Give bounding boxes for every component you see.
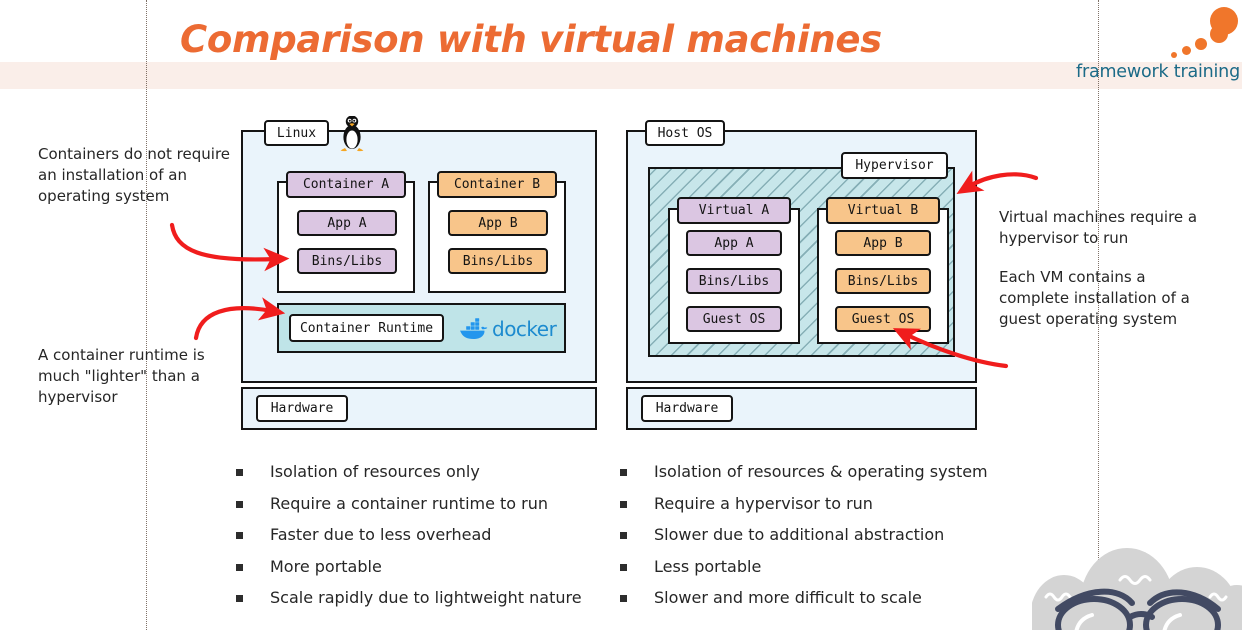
list-item: More portable bbox=[236, 551, 582, 583]
container-diagram: Linux Container A App A Bins/Libs Contai… bbox=[241, 120, 599, 430]
decorative-glasses-illustration bbox=[1032, 525, 1242, 630]
virtual-a-layer-guest-os: Guest OS bbox=[686, 306, 782, 332]
virtual-b-title: Virtual B bbox=[826, 197, 940, 224]
container-b-layer-app: App B bbox=[448, 210, 548, 236]
annotation-vm-needs-hypervisor: Virtual machines require a hypervisor to… bbox=[999, 207, 1214, 249]
list-item: Slower and more difficult to scale bbox=[620, 582, 988, 614]
logo-text: framework training bbox=[1064, 62, 1240, 82]
virtual-b-layer-guest-os: Guest OS bbox=[835, 306, 931, 332]
virtual-a-title: Virtual A bbox=[677, 197, 791, 224]
logo-dot-icon bbox=[1210, 7, 1238, 35]
annotation-runtime-lighter: A container runtime is much "lighter" th… bbox=[38, 345, 238, 408]
logo-dot-icon bbox=[1171, 52, 1177, 58]
vm-diagram: Host OS Hypervisor Virtual A App A Bins/… bbox=[626, 120, 979, 430]
container-a-title: Container A bbox=[286, 171, 406, 198]
list-item: Require a container runtime to run bbox=[236, 488, 582, 520]
list-item: Isolation of resources & operating syste… bbox=[620, 456, 988, 488]
linux-penguin-icon bbox=[335, 116, 369, 152]
logo-dot-icon bbox=[1182, 46, 1191, 55]
hypervisor-label: Hypervisor bbox=[841, 152, 948, 179]
container-a-layer-app: App A bbox=[297, 210, 397, 236]
virtual-b-layer-bins: Bins/Libs bbox=[835, 268, 931, 294]
container-hardware-label: Hardware bbox=[256, 395, 348, 422]
docker-wordmark: docker bbox=[492, 317, 556, 341]
docker-logo: docker bbox=[459, 317, 556, 341]
list-item: Slower due to additional abstraction bbox=[620, 519, 988, 551]
virtual-a-layer-app: App A bbox=[686, 230, 782, 256]
container-runtime-box: Container Runtime bbox=[289, 314, 444, 342]
docker-whale-icon bbox=[459, 318, 489, 341]
list-item: Faster due to less overhead bbox=[236, 519, 582, 551]
annotation-containers-no-os: Containers do not require an installatio… bbox=[38, 144, 238, 207]
os-label-host-os: Host OS bbox=[645, 120, 725, 146]
slide-canvas: Comparison with virtual machines framewo… bbox=[0, 0, 1242, 630]
vm-benefits-list: Isolation of resources & operating syste… bbox=[620, 456, 988, 614]
guide-line-left bbox=[146, 0, 147, 630]
list-item: Less portable bbox=[620, 551, 988, 583]
container-b-title: Container B bbox=[437, 171, 557, 198]
list-item: Require a hypervisor to run bbox=[620, 488, 988, 520]
list-item: Isolation of resources only bbox=[236, 456, 582, 488]
vm-hardware-label: Hardware bbox=[641, 395, 733, 422]
logo-dot-icon bbox=[1195, 38, 1207, 50]
container-benefits-list: Isolation of resources only Require a co… bbox=[236, 456, 582, 614]
annotation-vm-guest-os: Each VM contains a complete installation… bbox=[999, 267, 1214, 330]
title-band bbox=[0, 62, 1242, 89]
os-label-linux: Linux bbox=[264, 120, 329, 146]
list-item: Scale rapidly due to lightweight nature bbox=[236, 582, 582, 614]
brand-logo: framework training bbox=[1064, 4, 1240, 84]
page-title: Comparison with virtual machines bbox=[180, 18, 880, 61]
virtual-a-layer-bins: Bins/Libs bbox=[686, 268, 782, 294]
container-b-layer-bins: Bins/Libs bbox=[448, 248, 548, 274]
virtual-b-layer-app: App B bbox=[835, 230, 931, 256]
container-a-layer-bins: Bins/Libs bbox=[297, 248, 397, 274]
